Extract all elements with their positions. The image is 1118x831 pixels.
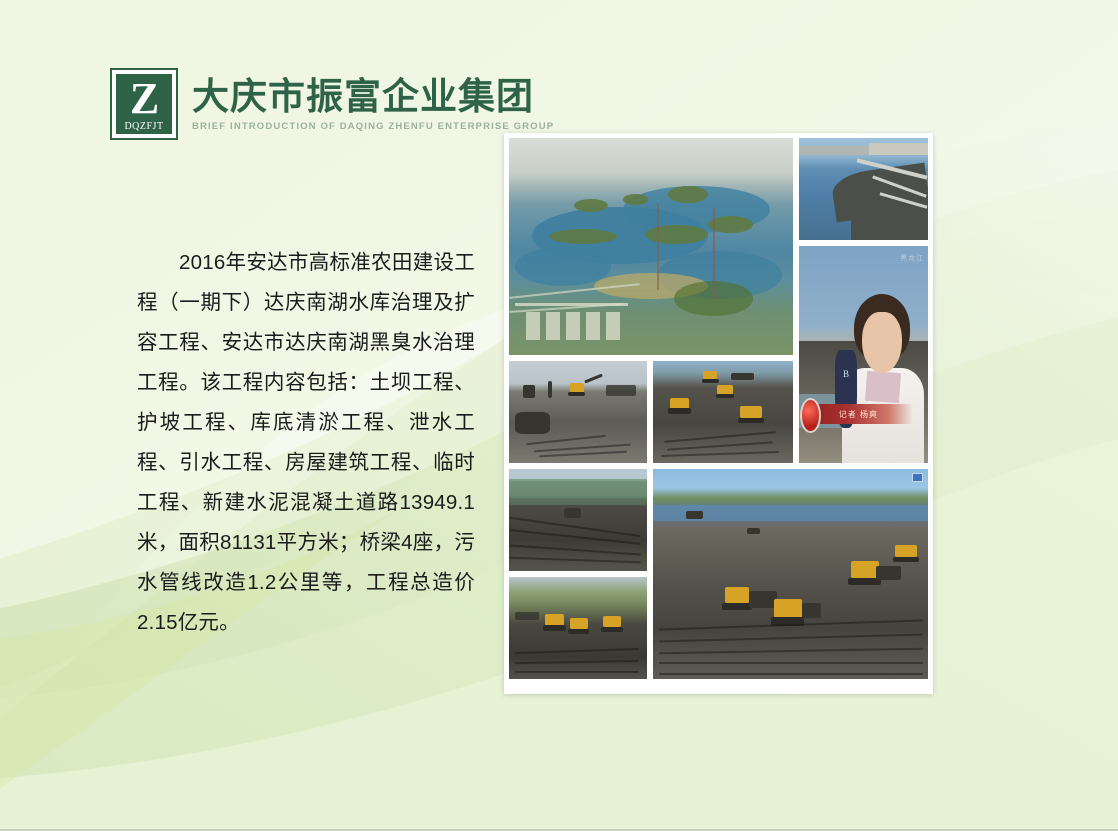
photo-wide-dredging[interactable] xyxy=(652,468,929,680)
photo-mud-hauling[interactable] xyxy=(508,576,648,680)
aerial-masterplan-scene xyxy=(509,138,793,355)
logo-mark-inner: Z DQZFJT xyxy=(116,74,172,134)
company-logo: Z DQZFJT 大庆市振富企业集团 BRIEF INTRODUCTION OF… xyxy=(110,68,554,140)
logo-mark-icon: Z DQZFJT xyxy=(110,68,178,140)
news-bug-icon xyxy=(800,398,821,433)
presentation-slide: Z DQZFJT 大庆市振富企业集团 BRIEF INTRODUCTION OF… xyxy=(0,0,1118,831)
photo-tv-news-reporter[interactable]: B 记者 杨爽 黑龙江 xyxy=(798,245,929,464)
excavation-site-scene xyxy=(509,361,647,463)
logo-abbreviation: DQZFJT xyxy=(124,121,163,132)
photo-coastal-aerial[interactable] xyxy=(798,137,929,241)
logo-letter-z: Z xyxy=(130,78,158,120)
company-name-en: BRIEF INTRODUCTION OF DAQING ZHENFU ENTE… xyxy=(192,121,554,132)
photo-collage-grid: B 记者 杨爽 黑龙江 xyxy=(508,137,929,690)
video-badge-icon xyxy=(912,473,923,482)
project-description-text: 2016年安达市高标准农田建设工程（一期下）达庆南湖水库治理及扩容工程、安达市达… xyxy=(137,251,475,634)
photo-excavation-site[interactable] xyxy=(508,360,648,464)
company-name-cn: 大庆市振富企业集团 xyxy=(192,76,554,118)
project-description: 2016年安达市高标准农田建设工程（一期下）达庆南湖水库治理及扩容工程、安达市达… xyxy=(137,243,475,643)
coastal-aerial-scene xyxy=(799,138,928,240)
wide-dredging-scene xyxy=(653,469,928,679)
earthmoving-slope-scene xyxy=(653,361,793,463)
photo-dike-embankment[interactable] xyxy=(508,468,648,572)
channel-watermark: 黑龙江 xyxy=(900,253,924,263)
mud-hauling-scene xyxy=(509,577,647,679)
tv-news-scene: B 记者 杨爽 黑龙江 xyxy=(799,246,928,463)
news-chyron-text: 记者 杨爽 xyxy=(839,409,878,420)
photo-earthmoving-slope[interactable] xyxy=(652,360,794,464)
mic-logo: B xyxy=(843,369,849,379)
photo-collage: B 记者 杨爽 黑龙江 xyxy=(504,133,933,694)
photo-aerial-masterplan[interactable] xyxy=(508,137,794,356)
logo-wordmark: 大庆市振富企业集团 BRIEF INTRODUCTION OF DAQING Z… xyxy=(192,68,554,132)
dike-embankment-scene xyxy=(509,469,647,571)
